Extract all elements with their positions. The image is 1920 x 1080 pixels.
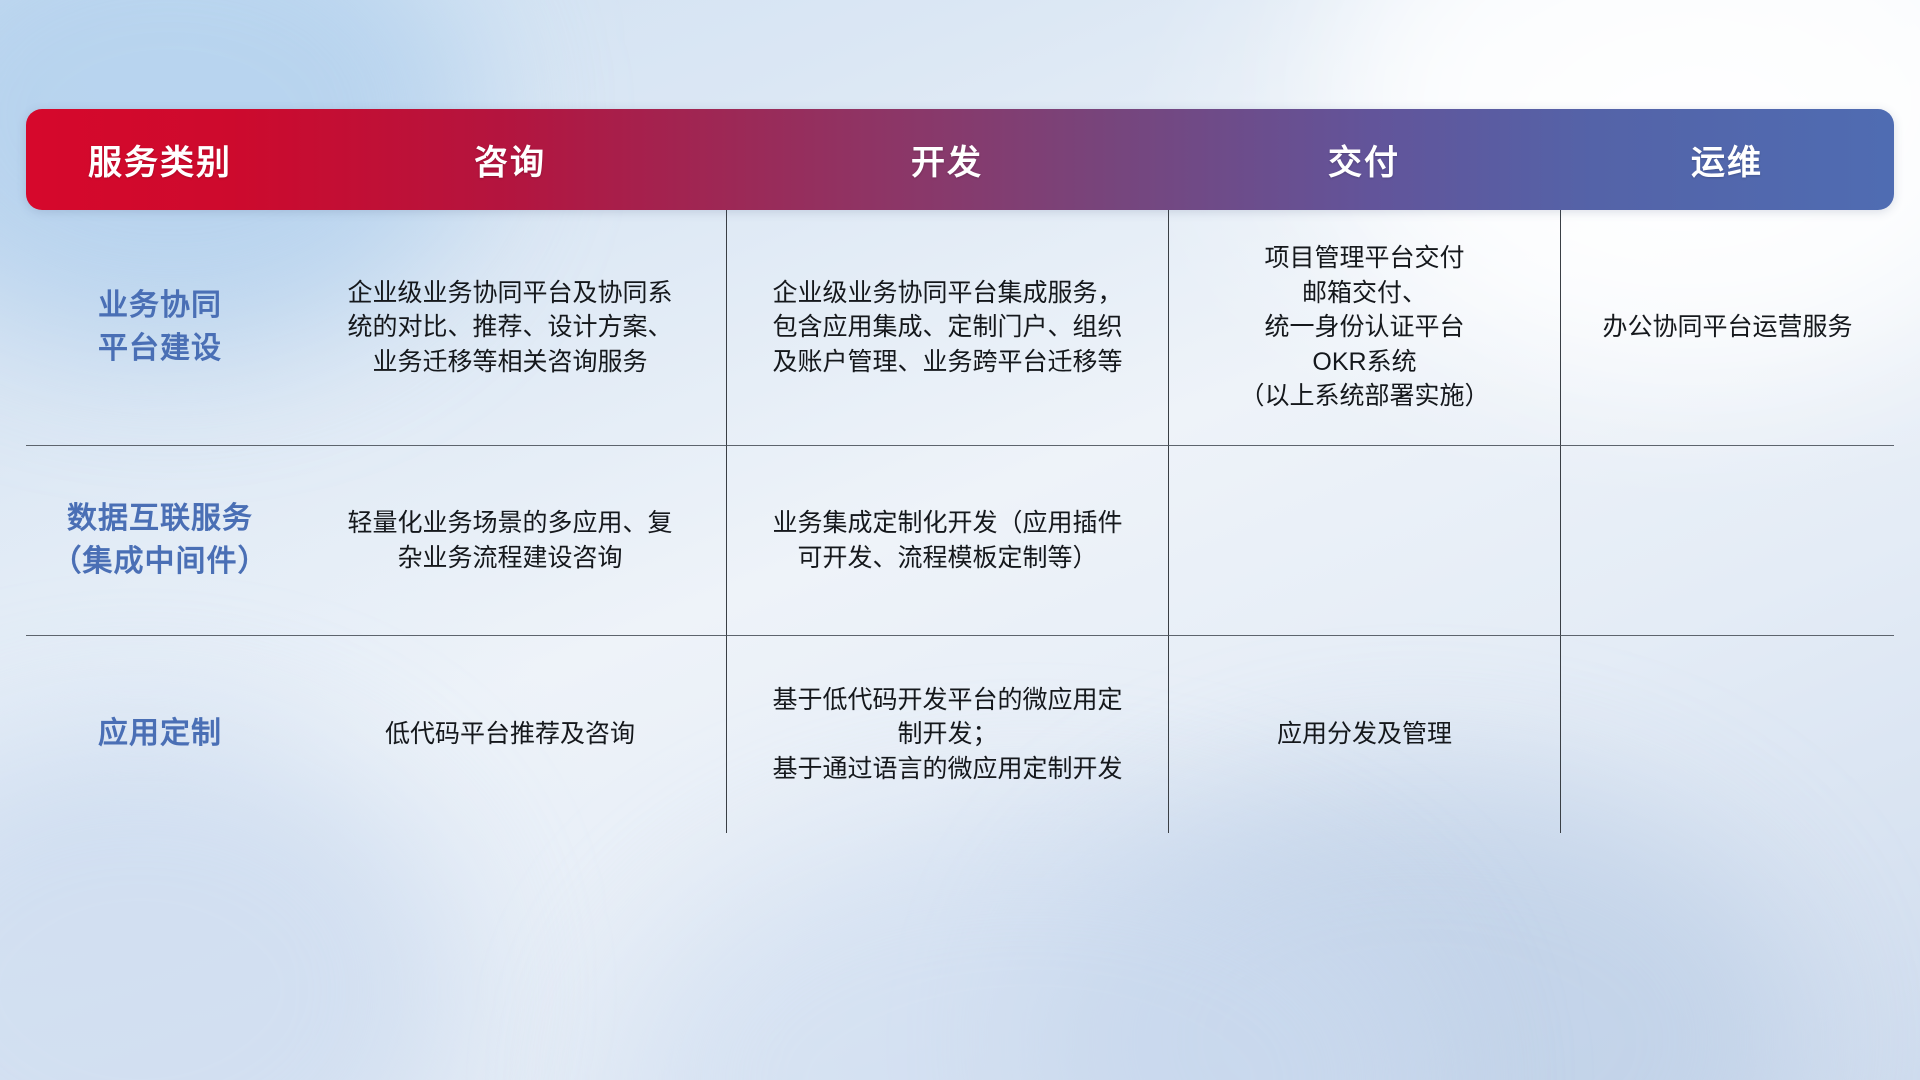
column-header-category: 服务类别 (26, 109, 294, 210)
row-label-application-customization: 应用定制 (26, 635, 294, 833)
cell-development-r1: 企业级业务协同平台集成服务， 包含应用集成、定制门户、组织 及账户管理、业务跨平… (726, 210, 1168, 445)
cell-consulting-r1: 企业级业务协同平台及协同系 统的对比、推荐、设计方案、 业务迁移等相关咨询服务 (294, 210, 726, 445)
background-blob (620, 820, 1440, 1080)
table-header-row: 服务类别 咨询 开发 交付 运维 (26, 109, 1894, 210)
cell-operations-r3 (1560, 635, 1894, 833)
cell-development-r2: 业务集成定制化开发（应用插件 可开发、流程模板定制等） (726, 445, 1168, 635)
table-row: 业务协同 平台建设 企业级业务协同平台及协同系 统的对比、推荐、设计方案、 业务… (26, 210, 1894, 445)
cell-consulting-r3: 低代码平台推荐及咨询 (294, 635, 726, 833)
table-body: 业务协同 平台建设 企业级业务协同平台及协同系 统的对比、推荐、设计方案、 业务… (26, 210, 1894, 833)
slide-canvas: 服务类别 咨询 开发 交付 运维 业务协同 平台建设 企业级业务协同平台及协同系… (0, 0, 1920, 1080)
cell-consulting-r2: 轻量化业务场景的多应用、复 杂业务流程建设咨询 (294, 445, 726, 635)
cell-delivery-r3: 应用分发及管理 (1168, 635, 1560, 833)
column-header-delivery: 交付 (1168, 109, 1560, 210)
column-header-operations: 运维 (1560, 109, 1894, 210)
cell-operations-r2 (1560, 445, 1894, 635)
column-header-development: 开发 (726, 109, 1168, 210)
column-header-consulting: 咨询 (294, 109, 726, 210)
cell-operations-r1: 办公协同平台运营服务 (1560, 210, 1894, 445)
cell-development-r3: 基于低代码开发平台的微应用定 制开发； 基于通过语言的微应用定制开发 (726, 635, 1168, 833)
table-row: 数据互联服务 （集成中间件） 轻量化业务场景的多应用、复 杂业务流程建设咨询 业… (26, 445, 1894, 635)
row-label-data-interconnect: 数据互联服务 （集成中间件） (26, 445, 294, 635)
service-matrix-table: 服务类别 咨询 开发 交付 运维 业务协同 平台建设 企业级业务协同平台及协同系… (26, 109, 1894, 789)
table-row: 应用定制 低代码平台推荐及咨询 基于低代码开发平台的微应用定 制开发； 基于通过… (26, 635, 1894, 833)
cell-delivery-r1: 项目管理平台交付 邮箱交付、 统一身份认证平台 OKR系统 （以上系统部署实施） (1168, 210, 1560, 445)
row-label-business-collaboration: 业务协同 平台建设 (26, 210, 294, 445)
cell-delivery-r2 (1168, 445, 1560, 635)
